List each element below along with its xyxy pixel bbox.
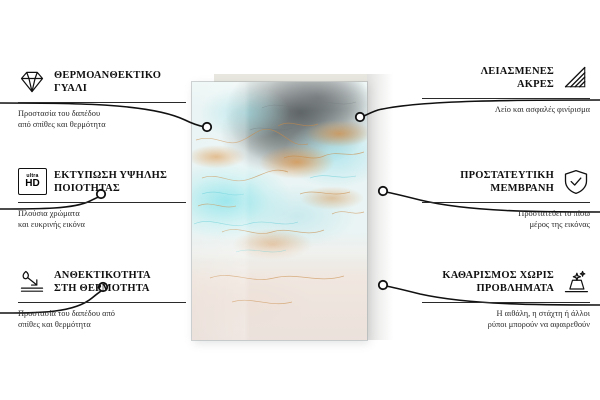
feature-description: Η αιθάλη, η στάχτη ή άλλοι ρύποι μπορούν… [410, 308, 590, 330]
feature-polished-edges: ΛΕΙΑΣΜΕΝΕΣ ΑΚΡΕΣ Λείο και ασφαλές φινίρι… [410, 62, 590, 115]
feature-title: ΚΑΘΑΡΙΣΜΟΣ ΧΩΡΙΣ ΠΡΟΒΛΗΜΑΤΑ [442, 269, 554, 295]
shield-check-icon [562, 168, 590, 196]
feature-title: ΕΚΤΥΠΩΣΗ ΥΨΗΛΗΣ ΠΟΙΟΤΗΤΑΣ [54, 169, 167, 195]
connector-dot-5 [379, 187, 387, 195]
feature-title: ΑΝΘΕΚΤΙΚΟΤΗΤΑ ΣΤΗ ΘΕΡΜΟΤΗΤΑ [54, 269, 151, 295]
feature-easy-cleaning: ΚΑΘΑΡΙΣΜΟΣ ΧΩΡΙΣ ΠΡΟΒΛΗΜΑΤΑ Η αιθάλη, η … [410, 266, 590, 330]
easy-clean-sparkle-icon [562, 268, 590, 296]
feature-divider [422, 302, 590, 303]
ultra-hd-icon: ultra HD [18, 168, 46, 196]
feature-description: Προστασία του δαπέδου από σπίθες και θερ… [18, 108, 198, 130]
feature-heat-resistant-glass: ΘΕΡΜΟΑΝΘΕΚΤΙΚΟ ΓΥΑΛΙ Προστασία του δαπέδ… [18, 66, 198, 130]
polished-edge-icon [562, 64, 590, 92]
feature-divider [422, 202, 590, 203]
flame-heat-resistance-icon [18, 268, 46, 296]
infographic-stage: ΘΕΡΜΟΑΝΘΕΚΤΙΚΟ ΓΥΑΛΙ Προστασία του δαπέδ… [0, 0, 600, 400]
feature-description: Λείο και ασφαλές φινίρισμα [410, 104, 590, 115]
connector-dot-4 [356, 113, 364, 121]
feature-divider [18, 102, 186, 103]
feature-heat-durability: ΑΝΘΕΚΤΙΚΟΤΗΤΑ ΣΤΗ ΘΕΡΜΟΤΗΤΑ Προστασία το… [18, 266, 198, 330]
connector-dot-6 [379, 281, 387, 289]
feature-title: ΠΡΟΣΤΑΤΕΥΤΙΚΗ ΜΕΜΒΡΑΝΗ [460, 169, 554, 195]
feature-description: Πλούσια χρώματα και ευκρινής εικόνα [18, 208, 198, 230]
feature-description: Προστατεύει το πίσω μέρος της εικόνας [410, 208, 590, 230]
connector-dot-1 [203, 123, 211, 131]
feature-divider [18, 202, 186, 203]
feature-title: ΛΕΙΑΣΜΕΝΕΣ ΑΚΡΕΣ [481, 65, 554, 91]
feature-description: Προστασία του δαπέδου από σπίθες και θερ… [18, 308, 198, 330]
feature-divider [422, 98, 590, 99]
feature-high-quality-print: ultra HD ΕΚΤΥΠΩΣΗ ΥΨΗΛΗΣ ΠΟΙΟΤΗΤΑΣ Πλούσ… [18, 166, 198, 230]
diamond-icon [18, 68, 46, 96]
feature-protective-membrane: ΠΡΟΣΤΑΤΕΥΤΙΚΗ ΜΕΜΒΡΑΝΗ Προστατεύει το πί… [410, 166, 590, 230]
feature-divider [18, 302, 186, 303]
feature-title: ΘΕΡΜΟΑΝΘΕΚΤΙΚΟ ΓΥΑΛΙ [54, 69, 161, 95]
